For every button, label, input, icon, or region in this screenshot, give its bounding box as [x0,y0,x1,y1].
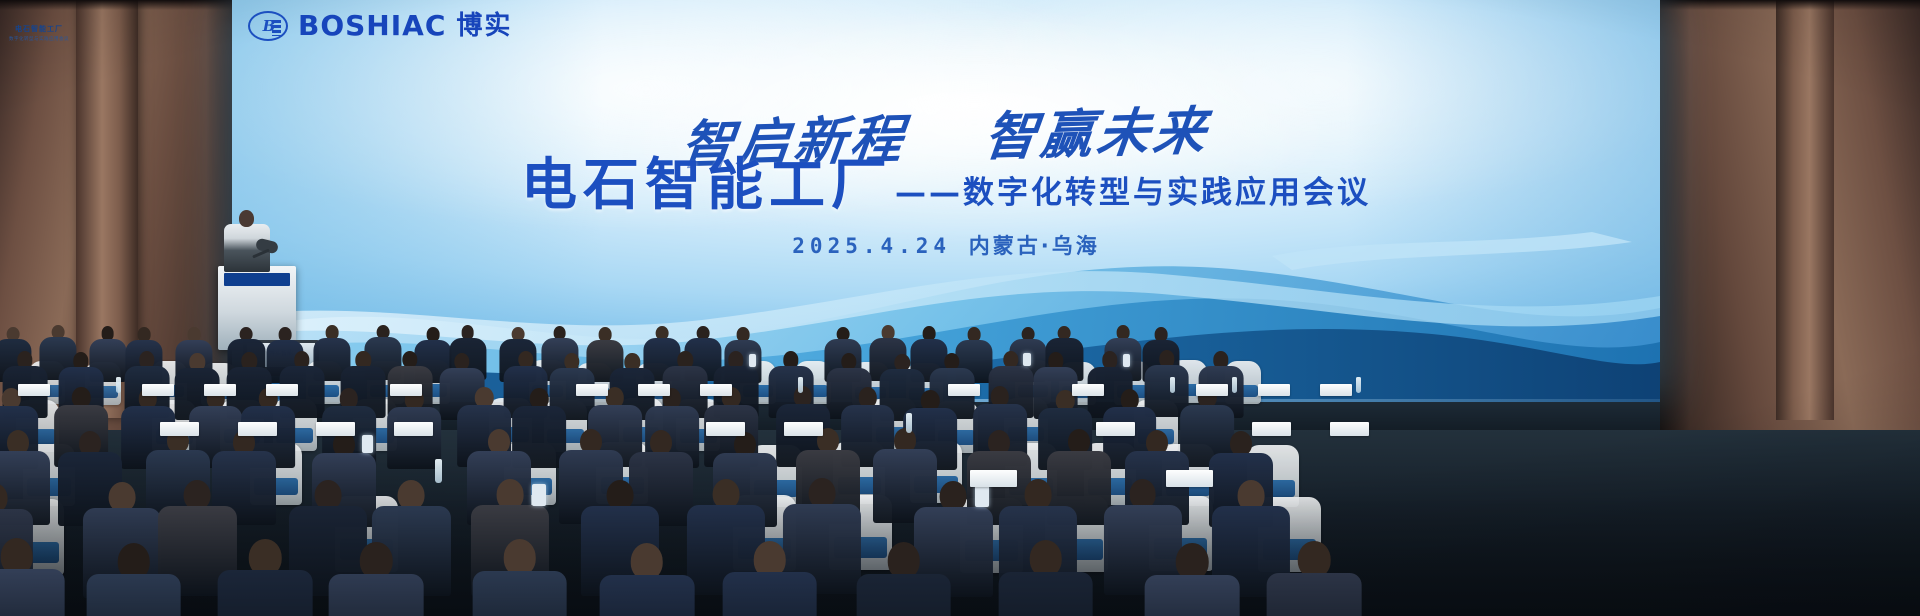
place-card [1320,384,1352,396]
conference-hall-photo: 智启新程 智赢未来 电石智能工厂 ——数字化转型与实践应用会议 2025.4.2… [0,0,1920,616]
place-card [204,384,236,396]
audience-person [329,542,424,616]
screen-title-row: 电石智能工厂 ——数字化转型与实践应用会议 [232,158,1660,214]
audience-person [998,540,1093,616]
place-card [576,384,608,396]
screen-title-main: 电石智能工厂 [521,158,893,214]
calligraphy-gap [926,156,960,157]
audience-person [600,543,695,616]
podium-title-line1: 电石智能工厂 [6,24,72,34]
audience-person [472,539,567,616]
water-bottle [798,377,803,393]
person-body [856,574,951,616]
speaker-head [239,210,254,227]
person-body [998,572,1093,616]
audience-person [86,543,181,616]
audience-person [218,539,313,616]
boshiac-logo-mark-icon: B [248,11,288,41]
place-card [1166,470,1213,487]
screen-title-sub: ——数字化转型与实践应用会议 [895,178,1371,214]
place-card [394,422,433,436]
audience-phone [1023,353,1031,366]
audience-phone [975,485,988,507]
place-card [970,470,1017,487]
screen-date-row: 2025.4.24 内蒙古·乌海 [232,230,1660,260]
audience-area [0,318,1920,616]
screen-date: 2025.4.24 [792,234,951,258]
audience-phone [362,435,373,453]
person-body [600,575,695,616]
place-card [160,422,199,436]
person-body [86,574,181,616]
water-bottle [116,377,121,393]
person-body [329,574,424,616]
place-card [706,422,745,436]
place-card [638,384,670,396]
place-card [18,384,50,396]
place-card [1330,422,1369,436]
water-bottle [1356,377,1361,393]
place-card [238,422,277,436]
place-card [1196,384,1228,396]
logo-chinese-text: 博实 [456,13,512,39]
water-bottle [1232,377,1237,393]
place-card [1072,384,1104,396]
place-card [1252,422,1291,436]
audience-phone [749,354,757,367]
logo-english-text: BOSHIAC [298,12,446,40]
screen-location: 内蒙古·乌海 [969,234,1100,258]
person-body [0,569,64,616]
person-body [1267,573,1362,616]
water-bottle [435,459,442,482]
water-bottle [1170,377,1175,393]
podium-title-line2: 数字化转型与实践应用会议 [6,36,72,42]
place-card [700,384,732,396]
boshiac-logo: B BOSHIAC 博实 [248,6,512,46]
place-card [1258,384,1290,396]
water-bottle [906,413,912,432]
audience-phone [532,484,545,506]
place-card [142,384,174,396]
place-card [266,384,298,396]
audience-person [0,538,64,616]
place-card [784,422,823,436]
audience-person [722,541,817,616]
audience-person [1267,541,1362,616]
place-card [316,422,355,436]
audience-phone [1123,354,1131,367]
place-card [948,384,980,396]
person-body [388,407,442,469]
person-body [472,571,567,616]
person-body [1145,575,1240,616]
place-card [1096,422,1135,436]
podium-banner-strip [224,273,290,286]
place-card [390,384,422,396]
audience-person [856,542,951,616]
logo-bars-icon [272,20,281,36]
audience-person [1145,543,1240,616]
person-body [722,572,817,616]
person-body [218,570,313,616]
